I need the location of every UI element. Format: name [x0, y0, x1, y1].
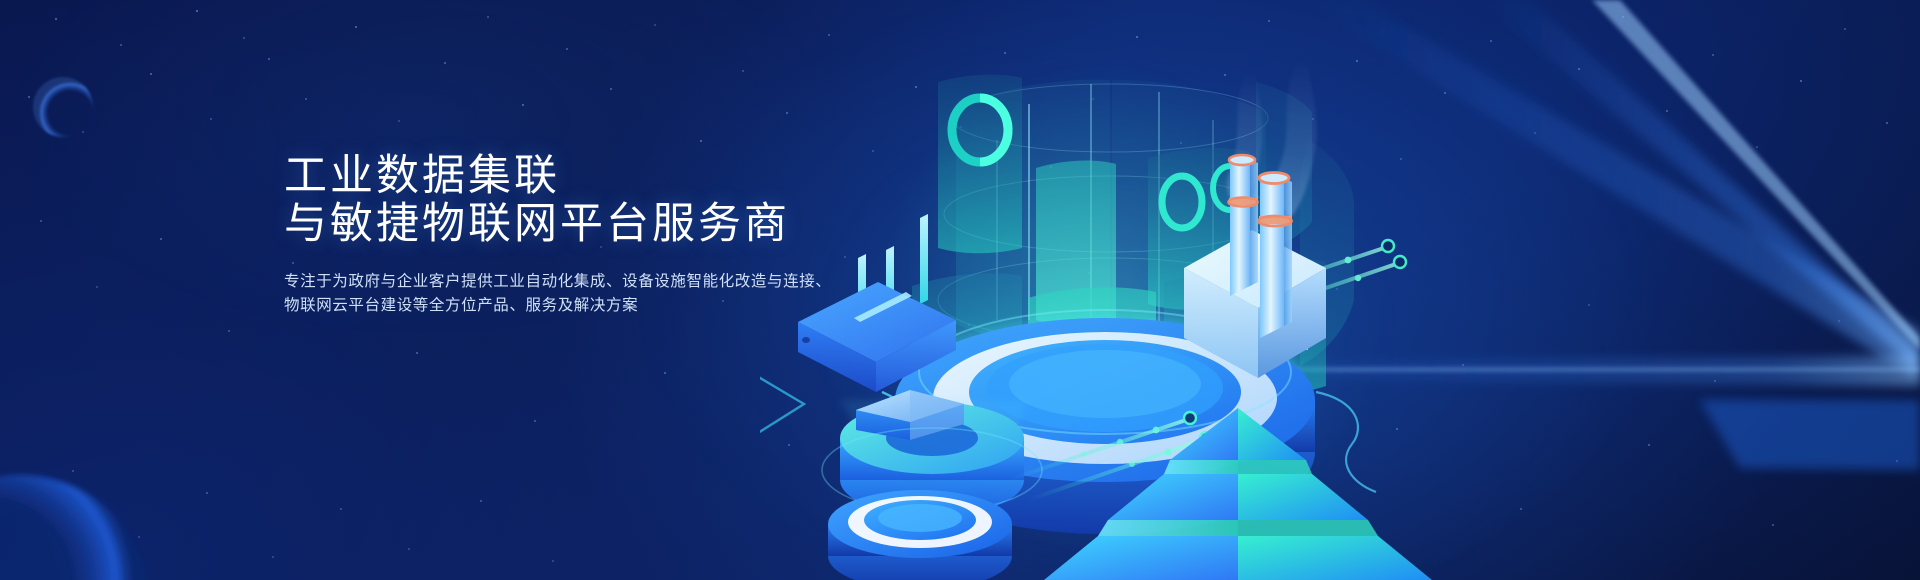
crescent-moon-icon: [18, 62, 108, 152]
hero-banner: 工业数据集联 与敏捷物联网平台服务商 专注于为政府与企业客户提供工业自动化集成、…: [0, 0, 1920, 580]
scene-vignette: [805, 90, 1405, 570]
isometric-illustration: [760, 0, 1920, 580]
planet-arc-bottom-left: [0, 430, 200, 580]
angular-bracket: [760, 372, 804, 438]
